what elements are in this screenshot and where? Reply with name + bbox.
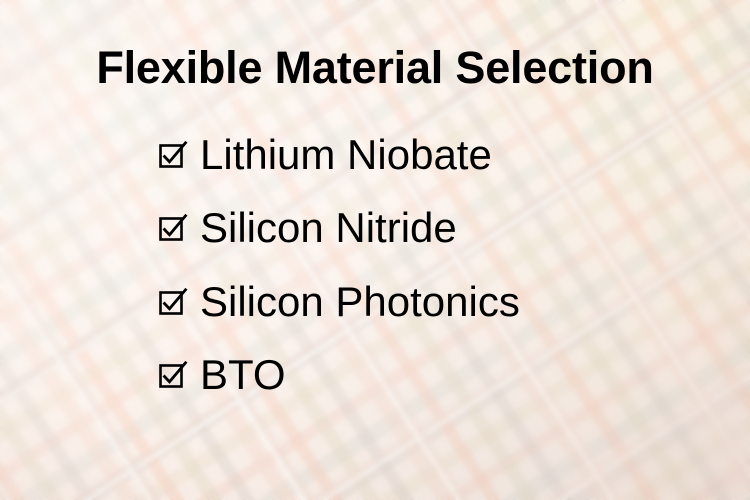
list-item-label: BTO xyxy=(200,354,286,396)
list-item[interactable]: Silicon Photonics xyxy=(158,265,520,339)
checked-checkbox-icon[interactable] xyxy=(158,140,188,170)
list-item[interactable]: Silicon Nitride xyxy=(158,192,520,266)
checked-checkbox-icon[interactable] xyxy=(158,360,188,390)
slide-content: Flexible Material Selection Lithium Niob… xyxy=(0,0,750,500)
list-item-label: Silicon Photonics xyxy=(200,281,520,323)
list-item-label: Silicon Nitride xyxy=(200,207,457,249)
slide-title: Flexible Material Selection xyxy=(0,44,750,91)
list-item-label: Lithium Niobate xyxy=(200,134,492,176)
list-item[interactable]: Lithium Niobate xyxy=(158,118,520,192)
checked-checkbox-icon[interactable] xyxy=(158,213,188,243)
list-item[interactable]: BTO xyxy=(158,339,520,413)
presentation-slide: Flexible Material Selection Lithium Niob… xyxy=(0,0,750,500)
checked-checkbox-icon[interactable] xyxy=(158,287,188,317)
material-selection-list: Lithium Niobate Silicon Nitride xyxy=(158,118,520,412)
